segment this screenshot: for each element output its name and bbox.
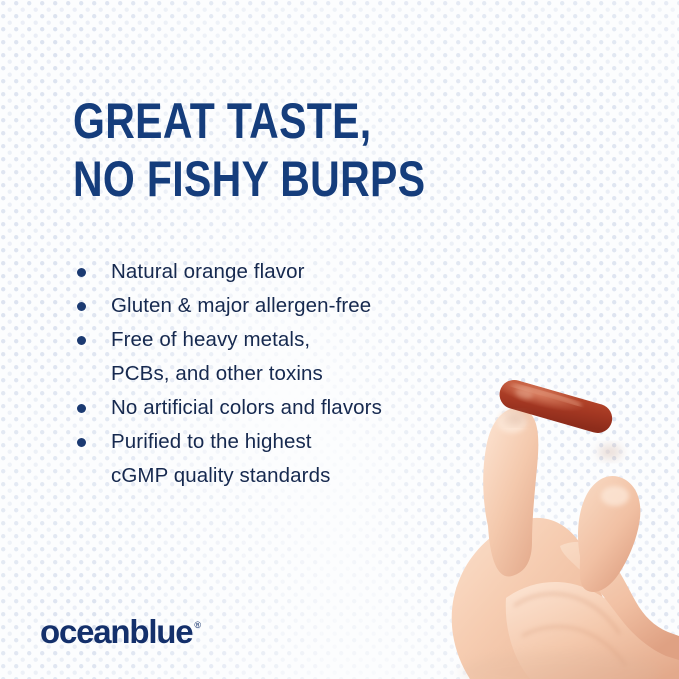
bullet-dot-icon <box>77 302 86 311</box>
hand-knuckle-1 <box>514 594 620 634</box>
list-item-continuation: PCBs, and other toxins <box>73 357 473 391</box>
list-item: Purified to the highest <box>73 425 473 459</box>
bullet-dot-icon <box>77 438 86 447</box>
list-item-label: cGMP quality standards <box>111 464 330 487</box>
bullet-dot-icon <box>77 336 86 345</box>
list-item: Natural orange flavor <box>73 255 473 289</box>
capsule-contact-shadow-left <box>504 412 528 424</box>
capsule-contact-shadow-right <box>598 445 622 459</box>
index-fingertip-highlight <box>497 411 527 433</box>
bullet-dot-icon <box>77 268 86 277</box>
hand-thumb <box>578 476 640 592</box>
list-item: Free of heavy metals, <box>73 323 473 357</box>
bullet-dot-icon <box>77 404 86 413</box>
headline-line-1: GREAT TASTE, <box>73 92 401 150</box>
list-item: No artificial colors and flavors <box>73 391 473 425</box>
list-item-label: PCBs, and other toxins <box>111 362 323 385</box>
brand-logo: oceanblue ® <box>40 615 201 649</box>
brand-wordmark: oceanblue <box>40 615 192 649</box>
product-benefits-graphic: GREAT TASTE, NO FISHY BURPS Natural oran… <box>0 0 679 679</box>
headline-line-2: NO FISHY BURPS <box>73 150 401 208</box>
softgel-capsule <box>496 377 615 437</box>
hand-shadow <box>460 652 660 679</box>
benefits-list: Natural orange flavor Gluten & major all… <box>73 255 473 493</box>
page-title: GREAT TASTE, NO FISHY BURPS <box>73 92 473 208</box>
hand-folded-fingers <box>506 582 679 679</box>
list-item-label: Natural orange flavor <box>111 260 305 283</box>
hand-middle-finger <box>560 542 679 660</box>
list-item-label: No artificial colors and flavors <box>111 396 382 419</box>
list-item-label: Free of heavy metals, <box>111 328 310 351</box>
registered-trademark-icon: ® <box>194 619 201 631</box>
hand-knuckle-2 <box>522 627 626 666</box>
list-item-continuation: cGMP quality standards <box>73 459 473 493</box>
hand-index-finger <box>483 408 538 577</box>
list-item: Gluten & major allergen-free <box>73 289 473 323</box>
hand-palm <box>452 518 679 679</box>
list-item-label: Purified to the highest <box>111 430 312 453</box>
thumb-tip-highlight <box>601 486 629 506</box>
list-item-label: Gluten & major allergen-free <box>111 294 371 317</box>
